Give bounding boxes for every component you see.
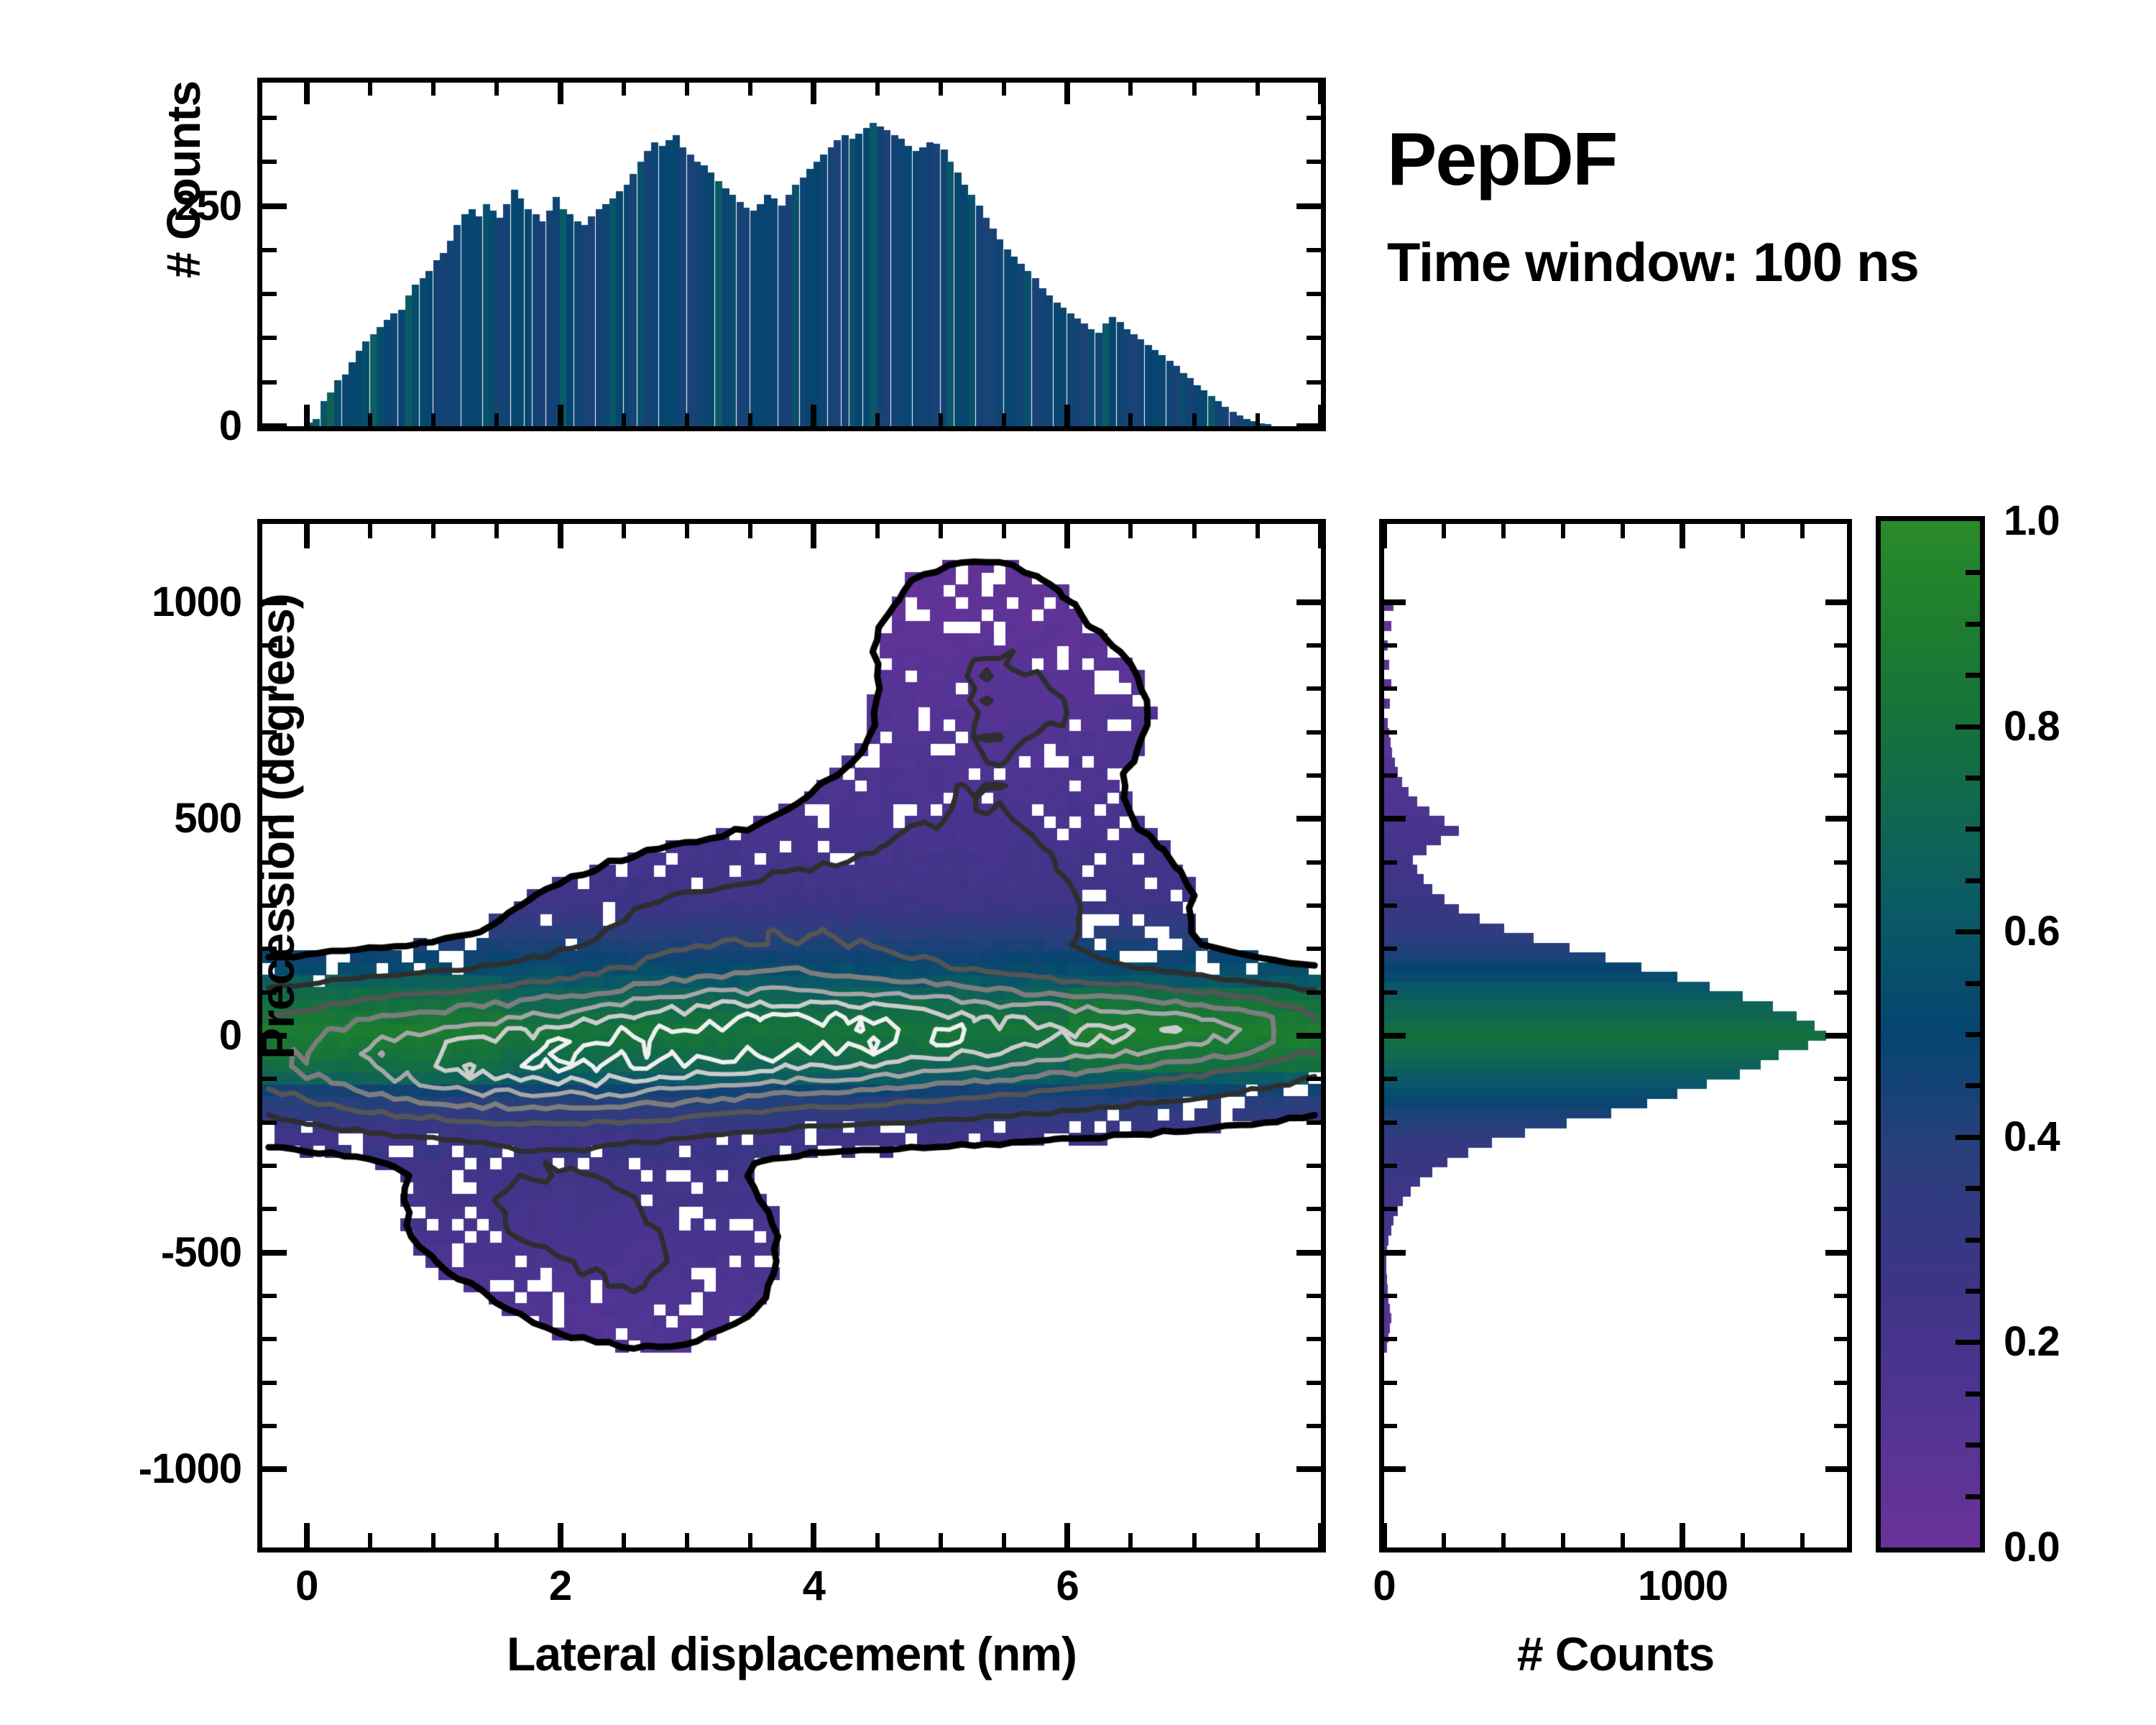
axis-tick: [494, 524, 499, 538]
axis-tick: [685, 524, 689, 538]
axis-tick: [748, 413, 752, 426]
axis-tick: [811, 1523, 816, 1547]
axis-tick: [431, 524, 436, 538]
axis-tick: [262, 116, 277, 120]
axis-tick: [1955, 1340, 1980, 1345]
axis-tick: [1741, 524, 1745, 538]
axis-tick: [1192, 1533, 1197, 1547]
axis-tick: [1296, 203, 1321, 209]
axis-tick: [262, 336, 277, 340]
axis-tick: [1318, 83, 1324, 104]
right-histogram-canvas: [1384, 524, 1847, 1547]
axis-tick: [368, 524, 372, 538]
axis-tick: [1741, 1533, 1745, 1547]
axis-tick: [1966, 1443, 1980, 1448]
axis-tick: [1002, 524, 1006, 538]
axis-tick: [304, 1523, 310, 1547]
axis-tick: [262, 1381, 277, 1385]
axis-tick: [368, 83, 372, 96]
axis-tick: [262, 380, 277, 385]
axis-tick: [1834, 773, 1847, 778]
axis-tick: [1296, 1466, 1321, 1472]
main-ytick-m500: -500: [161, 1232, 241, 1274]
axis-tick: [1307, 1121, 1321, 1125]
axis-tick: [1296, 599, 1321, 605]
axis-tick: [262, 423, 287, 429]
top-hist-ylabel: # Counts: [160, 81, 207, 278]
axis-tick: [1318, 1523, 1324, 1547]
axis-tick: [1307, 686, 1321, 691]
axis-tick: [1955, 724, 1980, 730]
axis-tick: [1384, 816, 1406, 822]
axis-tick: [1966, 827, 1980, 832]
colorbar-tick-0-8: 0.8: [2004, 706, 2060, 747]
axis-tick: [1296, 816, 1321, 822]
axis-tick: [1384, 903, 1397, 908]
colorbar-panel: [1876, 516, 1985, 1552]
axis-tick: [1825, 816, 1847, 822]
axis-tick: [1442, 1533, 1446, 1547]
axis-tick: [1128, 413, 1133, 426]
axis-tick: [262, 1466, 287, 1472]
axis-tick: [685, 83, 689, 96]
axis-tick: [1384, 1381, 1397, 1385]
axis-tick: [1966, 1289, 1980, 1294]
axis-tick: [262, 1424, 277, 1428]
axis-tick: [1966, 1186, 1980, 1191]
axis-tick: [1384, 1033, 1406, 1039]
right-marginal-histogram-panel: [1379, 519, 1852, 1552]
axis-tick: [558, 83, 563, 104]
axis-tick: [748, 83, 752, 96]
axis-tick: [875, 524, 880, 538]
axis-tick: [1307, 1294, 1321, 1298]
axis-tick: [1384, 1294, 1397, 1298]
axis-tick: [1834, 903, 1847, 908]
axis-tick: [875, 413, 880, 426]
axis-tick: [262, 1164, 277, 1168]
axis-tick: [1384, 860, 1397, 865]
axis-tick: [1064, 83, 1070, 104]
axis-tick: [1307, 116, 1321, 120]
axis-tick: [1834, 947, 1847, 951]
axis-tick: [939, 524, 943, 538]
axis-tick: [1307, 1207, 1321, 1211]
colorbar-tick-0-4: 0.4: [2004, 1116, 2060, 1158]
axis-tick: [1966, 673, 1980, 678]
axis-tick: [1800, 1533, 1805, 1547]
axis-tick: [1296, 423, 1321, 429]
axis-tick: [1307, 380, 1321, 385]
right-hist-xtick-1000: 1000: [1638, 1565, 1728, 1607]
axis-tick: [1064, 524, 1070, 548]
axis-tick: [304, 83, 310, 104]
axis-tick: [1834, 1337, 1847, 1341]
axis-tick: [1192, 524, 1197, 538]
main-ytick-0: 0: [219, 1015, 241, 1057]
axis-tick: [431, 413, 436, 426]
axis-tick: [368, 413, 372, 426]
main-xlabel: Lateral displacement (nm): [507, 1630, 1077, 1678]
axis-tick: [622, 413, 626, 426]
axis-tick: [1307, 903, 1321, 908]
axis-tick: [558, 405, 563, 426]
axis-tick: [622, 1533, 626, 1547]
axis-tick: [494, 413, 499, 426]
axis-tick: [1307, 292, 1321, 296]
axis-tick: [1501, 524, 1506, 538]
right-hist-xtick-0: 0: [1373, 1565, 1395, 1607]
axis-tick: [1307, 1164, 1321, 1168]
axis-tick: [1966, 1083, 1980, 1088]
axis-tick: [1384, 1121, 1397, 1125]
axis-tick: [1834, 686, 1847, 691]
axis-tick: [1966, 622, 1980, 627]
main-ytick-m1000: -1000: [139, 1448, 241, 1490]
title-block: PepDF Time window: 100 ns: [1387, 122, 1919, 290]
axis-tick: [1966, 1032, 1980, 1037]
axis-tick: [685, 413, 689, 426]
axis-tick: [622, 524, 626, 538]
axis-tick: [1834, 1294, 1847, 1298]
figure-root: 0 250 # Counts 1000 500 0 -500 -1000 0 2…: [0, 0, 2156, 1725]
axis-tick: [262, 1337, 277, 1341]
axis-tick: [1381, 1523, 1387, 1547]
axis-tick: [1621, 524, 1625, 538]
main-xtick-0: 0: [295, 1565, 318, 1607]
axis-tick: [1307, 860, 1321, 865]
axis-tick: [1256, 83, 1260, 96]
axis-tick: [262, 1121, 277, 1125]
main-ylabel: Precession (degrees): [254, 594, 301, 1059]
axis-tick: [1307, 1077, 1321, 1081]
axis-tick: [1307, 336, 1321, 340]
axis-tick: [1384, 773, 1397, 778]
axis-tick: [1621, 1533, 1625, 1547]
main-heatmap-panel: [257, 519, 1326, 1552]
axis-tick: [1064, 1523, 1070, 1547]
axis-tick: [1834, 1424, 1847, 1428]
main-ytick-1000: 1000: [152, 581, 241, 623]
axis-tick: [262, 1294, 277, 1298]
axis-tick: [1318, 405, 1324, 426]
axis-tick: [748, 524, 752, 538]
axis-tick: [1966, 570, 1980, 575]
axis-tick: [1834, 860, 1847, 865]
main-xtick-6: 6: [1056, 1565, 1079, 1607]
axis-tick: [494, 1533, 499, 1547]
axis-tick: [1128, 83, 1133, 96]
axis-tick: [1384, 947, 1397, 951]
axis-tick: [1307, 160, 1321, 164]
axis-tick: [262, 1207, 277, 1211]
axis-tick: [431, 1533, 436, 1547]
axis-tick: [1384, 1250, 1406, 1256]
axis-tick: [939, 1533, 943, 1547]
axis-tick: [811, 524, 816, 548]
axis-tick: [1296, 1033, 1321, 1039]
axis-tick: [1834, 1121, 1847, 1125]
figure-title: PepDF: [1387, 122, 1919, 197]
axis-tick: [1192, 83, 1197, 96]
axis-tick: [1834, 990, 1847, 995]
right-hist-xlabel: # Counts: [1517, 1630, 1714, 1678]
axis-tick: [1307, 1337, 1321, 1341]
axis-tick: [1561, 524, 1565, 538]
axis-tick: [368, 1533, 372, 1547]
axis-tick: [1834, 1207, 1847, 1211]
axis-tick: [1955, 1135, 1980, 1140]
axis-tick: [1002, 413, 1006, 426]
axis-tick: [1966, 1494, 1980, 1499]
axis-tick: [1384, 1164, 1397, 1168]
top-histogram-canvas: [262, 83, 1321, 426]
axis-tick: [1307, 1424, 1321, 1428]
axis-tick: [1384, 990, 1397, 995]
axis-tick: [262, 160, 277, 164]
figure-subtitle: Time window: 100 ns: [1387, 236, 1919, 290]
axis-tick: [1825, 599, 1847, 605]
axis-tick: [1966, 981, 1980, 986]
axis-tick: [875, 83, 880, 96]
axis-tick: [1307, 773, 1321, 778]
axis-tick: [1442, 524, 1446, 538]
axis-tick: [1256, 524, 1260, 538]
axis-tick: [304, 405, 310, 426]
axis-tick: [1966, 1391, 1980, 1397]
axis-tick: [1834, 1381, 1847, 1385]
axis-tick: [1834, 643, 1847, 648]
axis-tick: [1384, 730, 1397, 735]
axis-tick: [622, 83, 626, 96]
axis-tick: [1192, 413, 1197, 426]
top-marginal-histogram-panel: [257, 78, 1326, 431]
main-xtick-4: 4: [803, 1565, 825, 1607]
axis-tick: [1680, 524, 1685, 548]
axis-tick: [1307, 990, 1321, 995]
axis-tick: [1384, 1466, 1406, 1472]
axis-tick: [1966, 1238, 1980, 1243]
colorbar-tick-0-0: 0.0: [2004, 1527, 2060, 1568]
axis-tick: [811, 405, 816, 426]
axis-tick: [1966, 878, 1980, 883]
axis-tick: [1318, 524, 1324, 548]
axis-tick: [1307, 730, 1321, 735]
axis-tick: [1307, 643, 1321, 648]
axis-tick: [1800, 524, 1805, 538]
axis-tick: [1501, 1533, 1506, 1547]
axis-tick: [1256, 1533, 1260, 1547]
axis-tick: [811, 83, 816, 104]
axis-tick: [262, 203, 287, 209]
axis-tick: [1128, 524, 1133, 538]
axis-tick: [262, 292, 277, 296]
axis-tick: [1825, 1250, 1847, 1256]
axis-tick: [1825, 1466, 1847, 1472]
axis-tick: [1128, 1533, 1133, 1547]
axis-tick: [1834, 730, 1847, 735]
axis-tick: [1384, 1424, 1397, 1428]
axis-tick: [558, 524, 563, 548]
axis-tick: [262, 1077, 277, 1081]
axis-tick: [1381, 524, 1387, 548]
axis-tick: [1825, 1033, 1847, 1039]
axis-tick: [1384, 1207, 1397, 1211]
axis-tick: [494, 83, 499, 96]
axis-tick: [939, 83, 943, 96]
axis-tick: [1256, 413, 1260, 426]
axis-tick: [1561, 1533, 1565, 1547]
colorbar-tick-1-0: 1.0: [2004, 500, 2060, 542]
axis-tick: [1064, 405, 1070, 426]
axis-tick: [1384, 599, 1406, 605]
axis-tick: [1955, 929, 1980, 934]
main-ytick-500: 500: [174, 798, 241, 839]
axis-tick: [748, 1533, 752, 1547]
axis-tick: [685, 1533, 689, 1547]
axis-tick: [1966, 776, 1980, 781]
axis-tick: [1307, 248, 1321, 252]
colorbar-tick-0-2: 0.2: [2004, 1321, 2060, 1363]
axis-tick: [1002, 1533, 1006, 1547]
main-xtick-2: 2: [549, 1565, 571, 1607]
axis-tick: [1384, 643, 1397, 648]
main-heatmap-canvas: [262, 524, 1321, 1547]
axis-tick: [558, 1523, 563, 1547]
axis-tick: [939, 413, 943, 426]
axis-tick: [1307, 947, 1321, 951]
axis-tick: [1384, 1077, 1397, 1081]
axis-tick: [262, 1250, 287, 1256]
axis-tick: [1384, 1337, 1397, 1341]
axis-tick: [875, 1533, 880, 1547]
axis-tick: [1296, 1250, 1321, 1256]
axis-tick: [1834, 1077, 1847, 1081]
axis-tick: [431, 83, 436, 96]
axis-tick: [1680, 1523, 1685, 1547]
top-hist-ytick-0: 0: [219, 405, 241, 447]
axis-tick: [1384, 686, 1397, 691]
axis-tick: [1834, 1164, 1847, 1168]
axis-tick: [1307, 1381, 1321, 1385]
axis-tick: [1002, 83, 1006, 96]
colorbar-tick-0-6: 0.6: [2004, 911, 2060, 952]
axis-tick: [262, 248, 277, 252]
axis-tick: [304, 524, 310, 548]
